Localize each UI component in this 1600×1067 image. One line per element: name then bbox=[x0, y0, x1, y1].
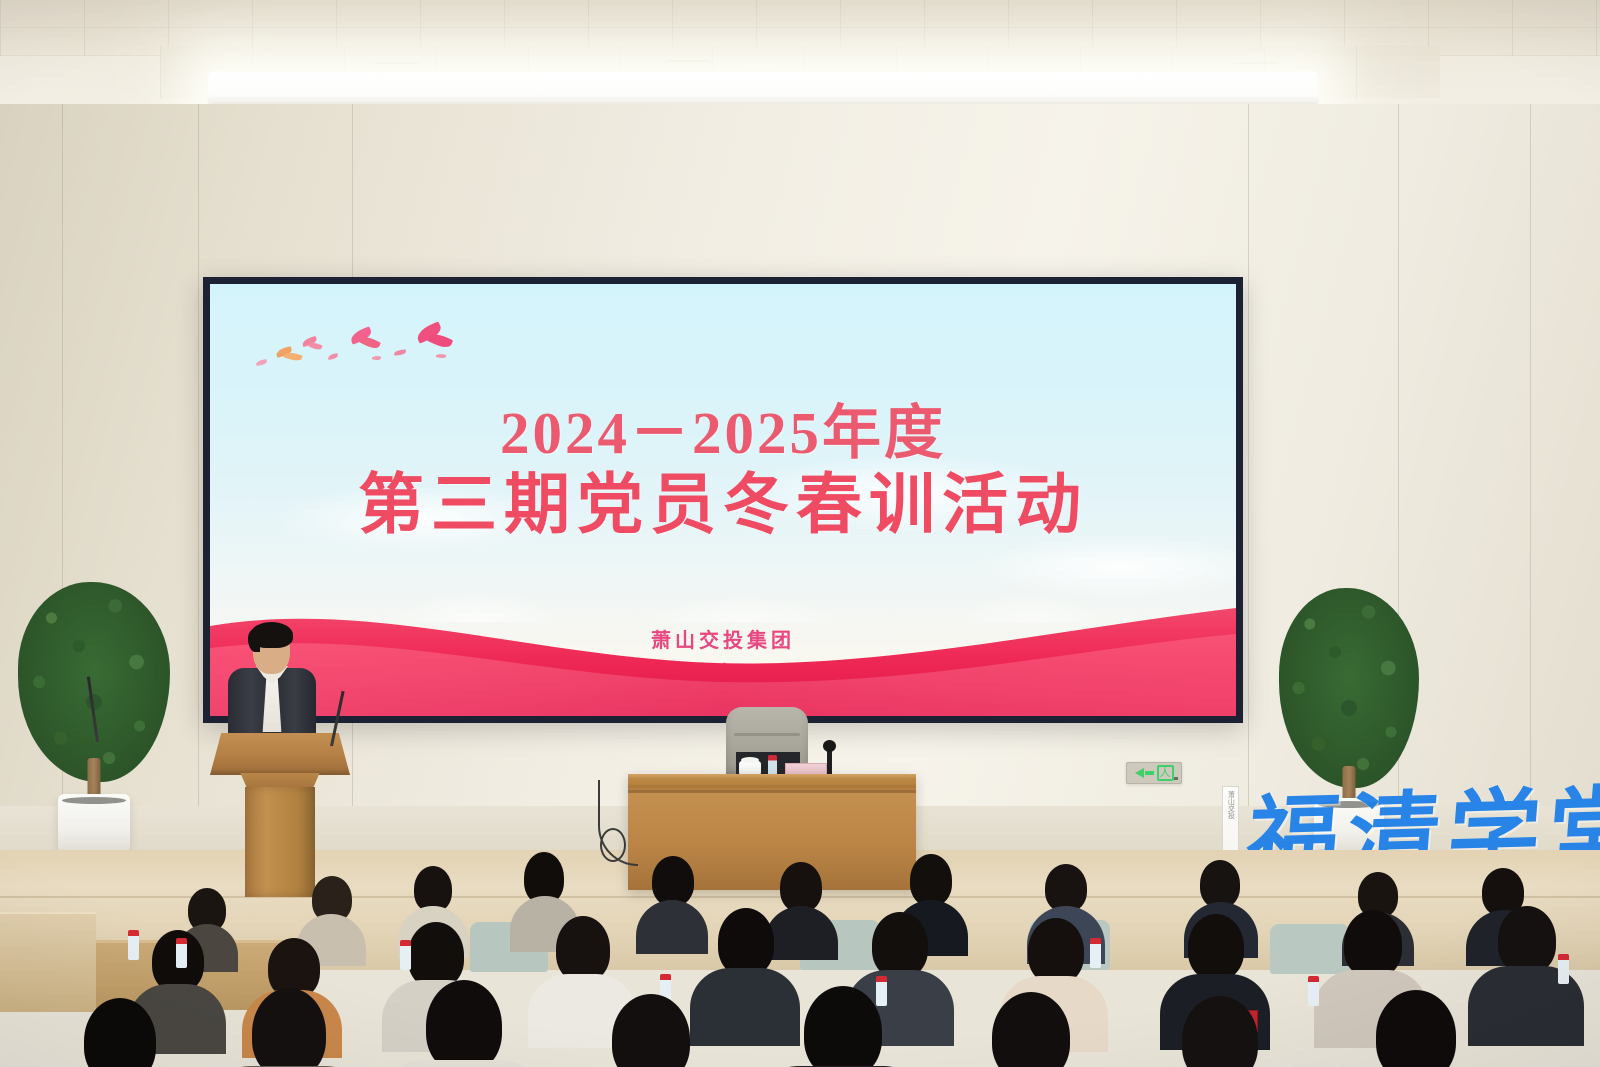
water-bottle bbox=[128, 930, 139, 960]
ceiling-dome-fixture-3 bbox=[1228, 62, 1284, 72]
audience-head bbox=[872, 912, 928, 978]
auditorium-photo: 2024－2025年度 第三期党员冬春训活动 萧山交投集团 2025年3月 bbox=[0, 0, 1600, 1067]
audience-head bbox=[612, 994, 690, 1067]
projection-screen-frame: 2024－2025年度 第三期党员冬春训活动 萧山交投集团 2025年3月 bbox=[203, 277, 1243, 723]
audience-head bbox=[1182, 996, 1258, 1067]
exit-arrow-tail bbox=[1145, 771, 1154, 775]
audience-shoulders bbox=[382, 1060, 542, 1067]
audience-person bbox=[228, 988, 348, 1067]
audience-head bbox=[426, 980, 502, 1067]
wall-seam bbox=[1530, 104, 1531, 894]
slide-birds-decor bbox=[240, 322, 470, 376]
exit-sign-led bbox=[1174, 777, 1178, 780]
audience-person bbox=[1350, 990, 1478, 1067]
ceiling-dome-fixture-2 bbox=[660, 60, 716, 70]
audience-person bbox=[60, 998, 178, 1067]
audience-head bbox=[910, 854, 952, 906]
audience-head bbox=[1344, 910, 1402, 978]
audience-person bbox=[1158, 996, 1282, 1067]
audience-person bbox=[1480, 906, 1570, 1042]
audience-person bbox=[640, 856, 702, 950]
audience-person bbox=[778, 986, 904, 1067]
water-bottle bbox=[1308, 976, 1319, 1006]
audience-head bbox=[1200, 860, 1240, 908]
ceiling-dome-fixture-1 bbox=[368, 62, 424, 72]
audience-head bbox=[652, 856, 694, 906]
speaker-hair bbox=[250, 622, 293, 648]
running-man-icon: 人 bbox=[1157, 765, 1174, 781]
audience-head bbox=[1188, 914, 1244, 980]
audience-head bbox=[556, 916, 610, 982]
slide-title-line-2: 第三期党员冬春训活动 bbox=[210, 473, 1236, 539]
audience-head bbox=[84, 998, 156, 1067]
audience-head bbox=[718, 908, 774, 976]
water-bottle bbox=[1558, 954, 1569, 984]
audience-person bbox=[966, 992, 1092, 1067]
audience-head bbox=[252, 988, 326, 1067]
audience-head bbox=[1498, 906, 1556, 974]
emergency-exit-sign: 人 bbox=[1126, 762, 1182, 784]
speaker-person bbox=[226, 622, 318, 742]
plant-left-foliage bbox=[18, 582, 170, 782]
ceiling-led-panel-light bbox=[207, 72, 1318, 104]
audience-head bbox=[1045, 864, 1087, 912]
projection-screen: 2024－2025年度 第三期党员冬春训活动 萧山交投集团 2025年3月 bbox=[210, 284, 1236, 716]
audience-head bbox=[1028, 918, 1084, 984]
audience-person bbox=[400, 980, 524, 1067]
exit-arrow-icon bbox=[1135, 768, 1144, 778]
water-bottle bbox=[400, 940, 411, 970]
podium-top bbox=[210, 733, 350, 775]
slide-title-line-1: 2024－2025年度 bbox=[210, 404, 1236, 463]
wall-seam bbox=[1248, 104, 1249, 894]
water-bottle bbox=[1090, 938, 1101, 968]
hanging-banner-text: 萧山交投 bbox=[1227, 787, 1235, 819]
water-bottle bbox=[176, 938, 187, 968]
audience-head bbox=[1376, 990, 1456, 1067]
audience-head bbox=[780, 862, 822, 912]
audience-head bbox=[992, 992, 1070, 1067]
wall-seam bbox=[198, 104, 199, 894]
audience-person bbox=[586, 994, 712, 1067]
slide-title-block: 2024－2025年度 第三期党员冬春训活动 bbox=[210, 404, 1236, 539]
slide-red-wave-graphic bbox=[210, 586, 1236, 716]
audience-shoulders bbox=[636, 900, 708, 954]
plant-right-foliage bbox=[1279, 588, 1419, 788]
audience-area bbox=[0, 846, 1600, 1067]
audience-person bbox=[700, 908, 788, 1040]
audience-head bbox=[408, 922, 464, 988]
audience-head bbox=[804, 986, 882, 1067]
